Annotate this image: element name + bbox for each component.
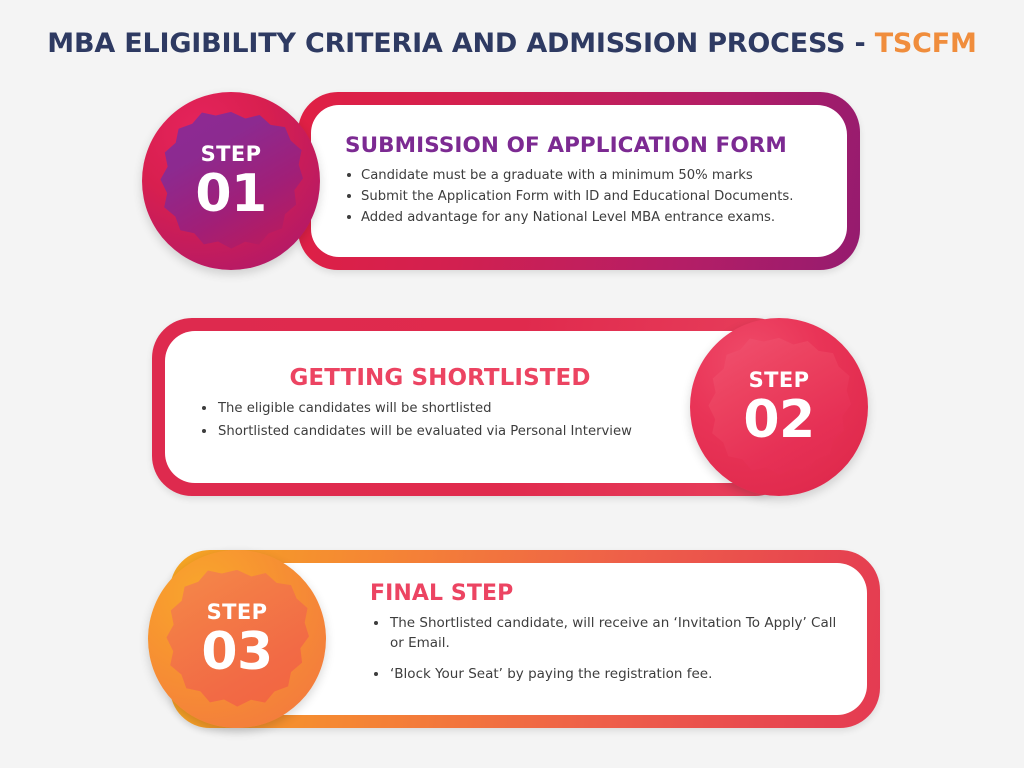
step-card-1-content: SUBMISSION OF APPLICATION FORM Candidate… <box>345 92 825 270</box>
step-2-bullet-1: The eligible candidates will be shortlis… <box>200 399 720 418</box>
infographic-page: { "title": { "main": "MBA ELIGIBILITY CR… <box>0 0 1024 768</box>
step-3-bullet-1: The Shortlisted candidate, will receive … <box>370 614 840 653</box>
step-2-bullet-2: Shortlisted candidates will be evaluated… <box>200 422 720 441</box>
step-2-step-number: 02 <box>743 393 814 448</box>
step-1-step-number: 01 <box>195 167 266 222</box>
page-title-main: MBA ELIGIBILITY CRITERIA AND ADMISSION P… <box>47 28 874 59</box>
step-1-bullet-2: Submit the Application Form with ID and … <box>345 187 825 206</box>
page-title-accent-brand: TSCFM <box>875 28 977 59</box>
step-card-2-content: GETTING SHORTLISTED The eligible candida… <box>200 318 720 496</box>
step-1-step-word: STEP <box>201 144 262 165</box>
step-row-2: GETTING SHORTLISTED The eligible candida… <box>0 318 1024 518</box>
step-row-3: FINAL STEP The Shortlisted candidate, wi… <box>0 550 1024 750</box>
step-row-1: SUBMISSION OF APPLICATION FORM Candidate… <box>0 92 1024 292</box>
step-2-bullet-list: The eligible candidates will be shortlis… <box>200 399 720 445</box>
step-3-bullet-2: ‘Block Your Seat’ by paying the registra… <box>370 665 840 685</box>
step-2-badge-labels: STEP 02 <box>690 318 868 496</box>
page-title: MBA ELIGIBILITY CRITERIA AND ADMISSION P… <box>0 28 1024 59</box>
step-1-badge: STEP 01 <box>142 92 320 270</box>
step-1-badge-labels: STEP 01 <box>142 92 320 270</box>
step-3-heading: FINAL STEP <box>370 581 840 606</box>
step-3-bullet-list: The Shortlisted candidate, will receive … <box>370 614 840 697</box>
step-1-heading: SUBMISSION OF APPLICATION FORM <box>345 133 825 158</box>
step-2-heading: GETTING SHORTLISTED <box>200 365 720 391</box>
step-2-step-word: STEP <box>749 370 810 391</box>
step-3-step-number: 03 <box>201 625 272 680</box>
step-3-badge-labels: STEP 03 <box>148 550 326 728</box>
step-3-step-word: STEP <box>207 602 268 623</box>
step-card-3-content: FINAL STEP The Shortlisted candidate, wi… <box>370 550 840 728</box>
step-1-bullet-3: Added advantage for any National Level M… <box>345 208 825 227</box>
step-2-badge: STEP 02 <box>690 318 868 496</box>
step-1-bullet-list: Candidate must be a graduate with a mini… <box>345 166 825 229</box>
step-3-badge: STEP 03 <box>148 550 326 728</box>
step-1-bullet-1: Candidate must be a graduate with a mini… <box>345 166 825 185</box>
